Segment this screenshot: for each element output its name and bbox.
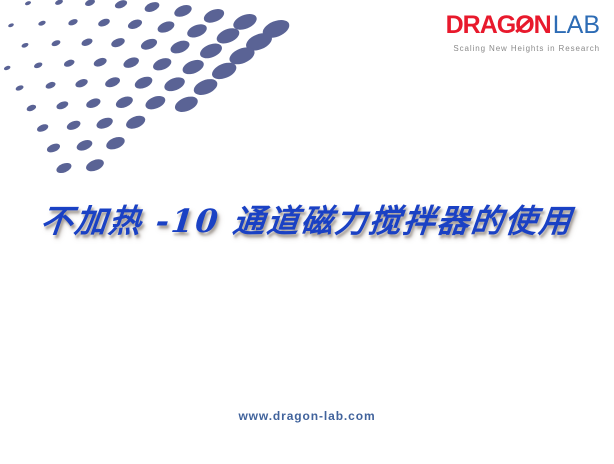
logo-wordmark: DRAGONLAB — [446, 12, 600, 38]
slide-canvas: DRAGONLAB Scaling New Heights in Researc… — [0, 0, 614, 464]
title-block: 不加热 -10 通道磁力搅拌器的使用 — [0, 196, 614, 242]
logo-dragon-text: DRAGON — [446, 11, 551, 39]
logo-lab-text: LAB — [553, 11, 600, 39]
website-url[interactable]: www.dragon-lab.com — [238, 409, 375, 423]
footer: www.dragon-lab.com — [0, 407, 614, 425]
brand-logo: DRAGONLAB Scaling New Heights in Researc… — [446, 12, 600, 53]
halftone-dot-decoration — [0, 0, 300, 190]
logo-dragon-part2: N — [534, 11, 551, 39]
page-title: 不加热 -10 通道磁力搅拌器的使用 — [39, 196, 576, 242]
logo-tagline: Scaling New Heights in Research — [446, 45, 600, 53]
logo-dragon-slashed-o-icon: O — [515, 12, 533, 38]
logo-dragon-part1: DRAG — [446, 11, 516, 39]
